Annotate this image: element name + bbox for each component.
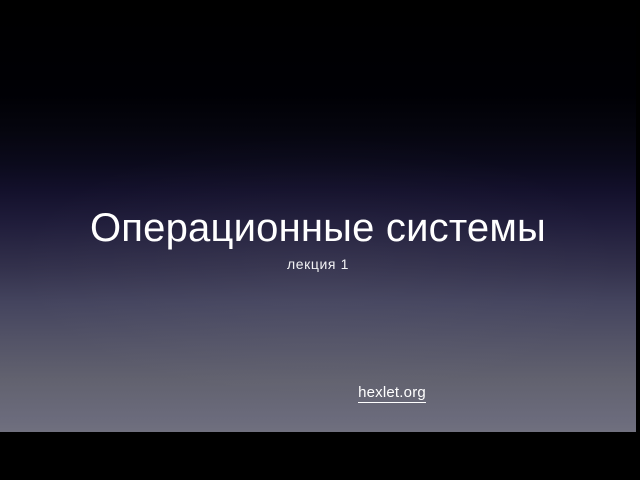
page-title: Операционные системы: [0, 206, 636, 250]
title-block: Операционные системы лекция 1: [0, 206, 636, 273]
hexlet-site-link[interactable]: hexlet.org: [358, 384, 426, 403]
slide-subtitle: лекция 1: [0, 255, 636, 273]
slide-frame: Операционные системы лекция 1 hexlet.org: [0, 0, 640, 480]
site-link-container: hexlet.org: [0, 384, 636, 403]
slide-canvas: Операционные системы лекция 1 hexlet.org: [0, 0, 636, 432]
